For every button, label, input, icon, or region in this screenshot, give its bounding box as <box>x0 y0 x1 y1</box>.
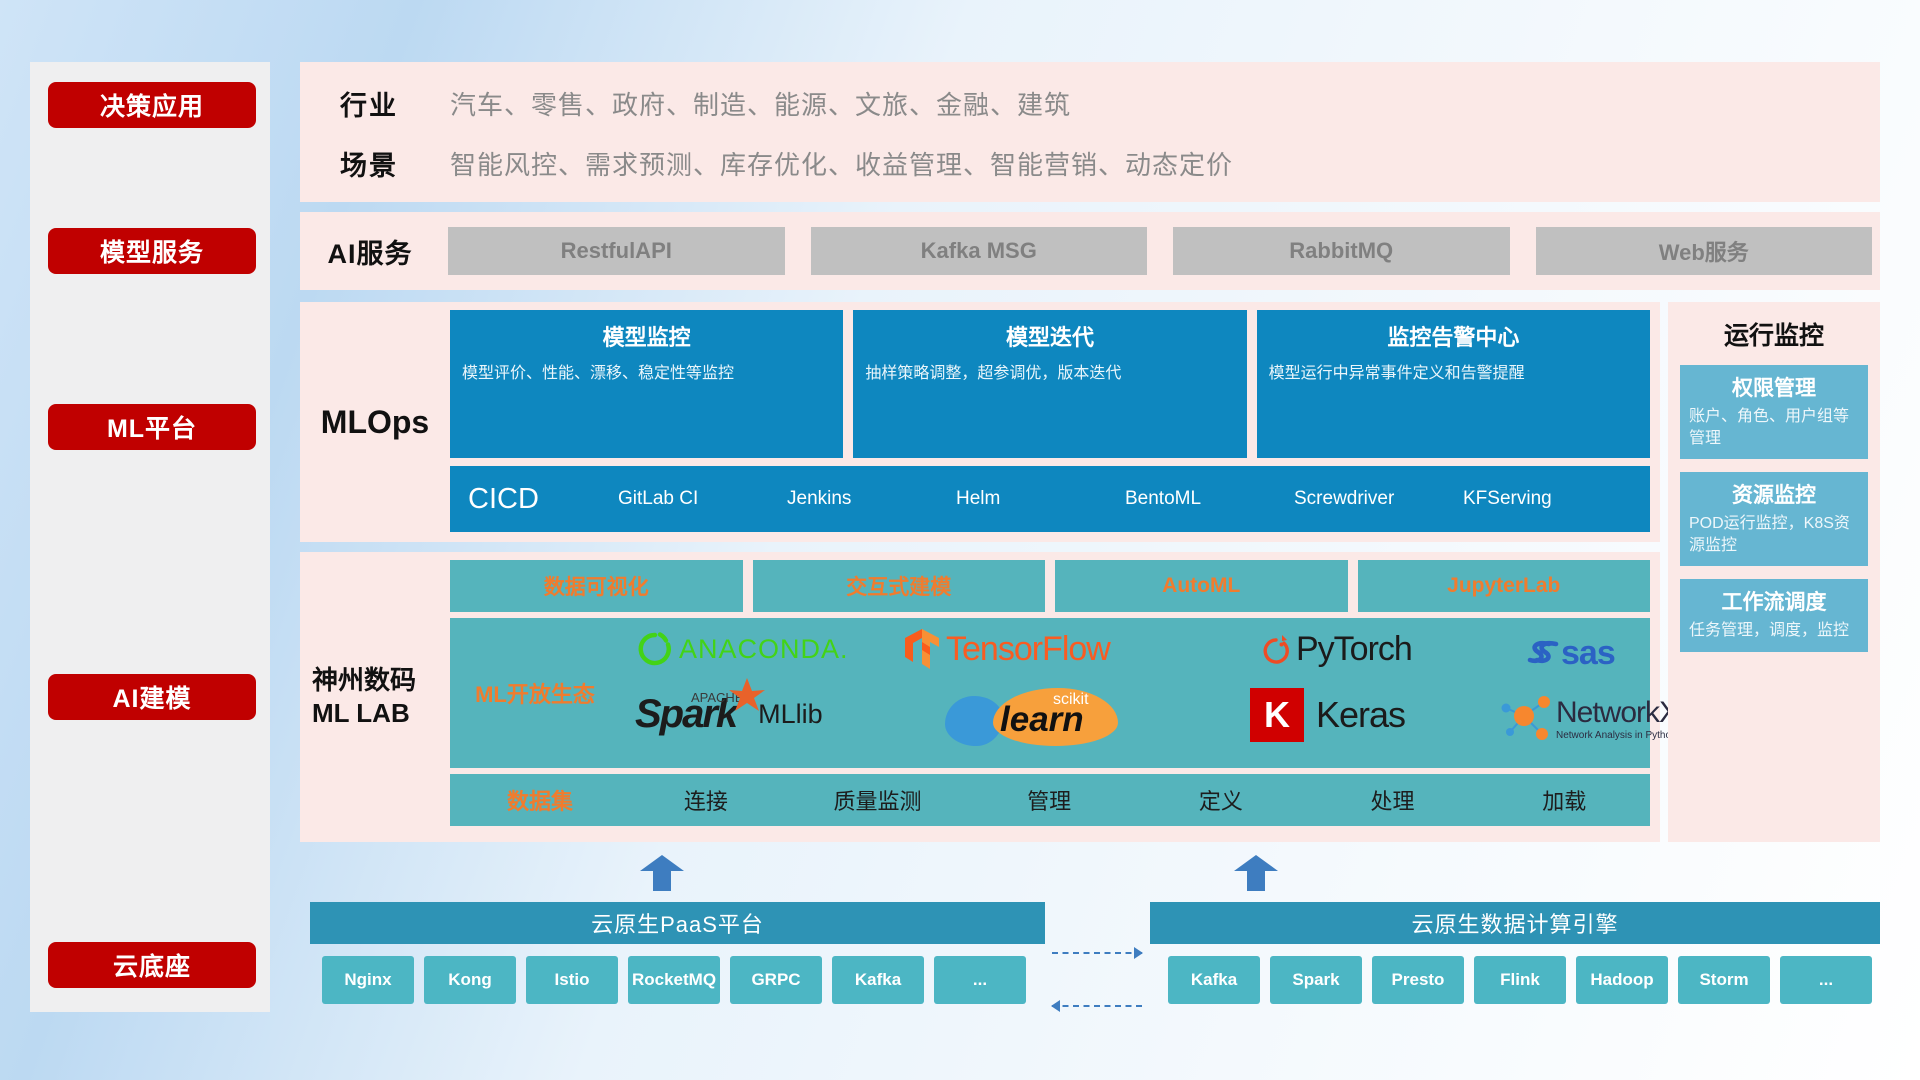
dataset-row: 数据集 连接 质量监测 管理 定义 处理 加载 <box>450 774 1650 826</box>
ai-chip-restful-api[interactable]: RestfulAPI <box>448 227 785 275</box>
compute-chip-flink[interactable]: Flink <box>1474 956 1566 1004</box>
cicd-bar: CICD GitLab CI Jenkins Helm BentoML Scre… <box>450 466 1650 532</box>
ai-service-chip-group: RestfulAPI Kafka MSG RabbitMQ Web服务 <box>440 227 1880 275</box>
keras-wordmark: Keras <box>1316 694 1405 736</box>
scikit-learn-mark-icon: scikit learn <box>945 688 1195 746</box>
cicd-item-bentoml[interactable]: BentoML <box>1125 488 1294 510</box>
networkx-mark-icon <box>1500 694 1552 742</box>
card-desc: 模型评价、性能、漂移、稳定性等监控 <box>462 362 831 385</box>
paas-platform-bar[interactable]: 云原生PaaS平台 <box>310 902 1045 944</box>
mlops-card-model-iteration[interactable]: 模型迭代 抽样策略调整，超参调优，版本迭代 <box>853 310 1246 458</box>
card-title: 工作流调度 <box>1689 586 1859 616</box>
arrow-up-compute-icon <box>1234 855 1278 891</box>
mlops-card-alert-center[interactable]: 监控告警中心 模型运行中异常事件定义和告警提醒 <box>1257 310 1650 458</box>
card-title: 模型监控 <box>462 320 831 352</box>
dataset-item-define[interactable]: 定义 <box>1135 784 1307 816</box>
ml-lab-label-line2: ML LAB <box>312 697 450 730</box>
ai-chip-rabbitmq[interactable]: RabbitMQ <box>1173 227 1510 275</box>
card-title: 资源监控 <box>1689 479 1859 509</box>
anaconda-wordmark: ANACONDA. <box>679 634 849 665</box>
compute-chip-more[interactable]: ... <box>1780 956 1872 1004</box>
card-title: 权限管理 <box>1689 372 1859 402</box>
card-title: 监控告警中心 <box>1269 320 1638 352</box>
pytorch-logo: PyTorch <box>1260 630 1412 669</box>
ml-lab-band: 神州数码 ML LAB 数据可视化 交互式建模 AutoML JupyterLa… <box>300 552 1660 842</box>
lab-tool-data-visualization[interactable]: 数据可视化 <box>450 560 743 612</box>
card-desc: 任务管理，调度，监控 <box>1689 620 1859 642</box>
dashed-arrow-right-icon <box>1052 952 1142 954</box>
mlops-band: MLOps 模型监控 模型评价、性能、漂移、稳定性等监控 模型迭代 抽样策略调整… <box>300 302 1660 542</box>
pytorch-mark-icon <box>1260 632 1292 668</box>
dataset-item-connect[interactable]: 连接 <box>620 784 792 816</box>
keras-mark-icon: K <box>1250 688 1304 742</box>
cicd-item-kfserving[interactable]: KFServing <box>1463 488 1632 510</box>
layer-rail: 决策应用 模型服务 ML平台 AI建模 云底座 <box>30 62 270 1012</box>
architecture-diagram: 决策应用 模型服务 ML平台 AI建模 云底座 行业 汽车、零售、政府、制造、能… <box>0 0 1920 1080</box>
anaconda-logo: ANACONDA. <box>638 632 849 666</box>
lab-tool-interactive-modeling[interactable]: 交互式建模 <box>753 560 1046 612</box>
industry-label: 行业 <box>340 84 450 123</box>
keras-logo: K Keras <box>1250 688 1405 742</box>
cicd-item-gitlab-ci[interactable]: GitLab CI <box>618 488 787 510</box>
paas-chip-more[interactable]: ... <box>934 956 1026 1004</box>
layer-chip-cloud-base[interactable]: 云底座 <box>48 942 256 988</box>
scikit-learn-logo: scikit learn <box>945 688 1195 746</box>
mon-card-resource[interactable]: 资源监控 POD运行监控，K8S资源监控 <box>1680 472 1868 566</box>
layer-chip-model-service[interactable]: 模型服务 <box>48 228 256 274</box>
ml-lab-label: 神州数码 ML LAB <box>300 552 450 842</box>
industry-scenario-band: 行业 汽车、零售、政府、制造、能源、文旅、金融、建筑 场景 智能风控、需求预测、… <box>300 62 1880 202</box>
mlops-card-model-monitoring[interactable]: 模型监控 模型评价、性能、漂移、稳定性等监控 <box>450 310 843 458</box>
card-desc: POD运行监控，K8S资源监控 <box>1689 513 1859 556</box>
dashed-arrow-left-icon <box>1052 1005 1142 1007</box>
industry-values: 汽车、零售、政府、制造、能源、文旅、金融、建筑 <box>450 85 1071 122</box>
lab-tool-automl[interactable]: AutoML <box>1055 560 1348 612</box>
sas-wordmark: sas <box>1561 634 1615 673</box>
cicd-item-jenkins[interactable]: Jenkins <box>787 488 956 510</box>
networkx-wordmark: NetworkX <box>1556 696 1678 730</box>
arrow-up-paas-icon <box>640 855 684 891</box>
paas-chip-kong[interactable]: Kong <box>424 956 516 1004</box>
layer-chip-ai-modeling[interactable]: AI建模 <box>48 674 256 720</box>
ai-chip-web-service[interactable]: Web服务 <box>1536 227 1873 275</box>
lab-tool-jupyterlab[interactable]: JupyterLab <box>1358 560 1651 612</box>
layer-chip-ml-platform[interactable]: ML平台 <box>48 404 256 450</box>
compute-chip-presto[interactable]: Presto <box>1372 956 1464 1004</box>
dataset-label: 数据集 <box>460 784 620 816</box>
paas-chip-nginx[interactable]: Nginx <box>322 956 414 1004</box>
card-desc: 模型运行中异常事件定义和告警提醒 <box>1269 362 1638 385</box>
tensorflow-wordmark: TensorFlow <box>946 630 1110 669</box>
paas-chip-kafka[interactable]: Kafka <box>832 956 924 1004</box>
compute-chip-group: Kafka Spark Presto Flink Hadoop Storm ..… <box>1168 956 1872 1004</box>
scenario-values: 智能风控、需求预测、库存优化、收益管理、智能营销、动态定价 <box>450 145 1233 182</box>
paas-chip-grpc[interactable]: GRPC <box>730 956 822 1004</box>
tensorflow-logo: TensorFlow <box>905 628 1110 670</box>
ai-service-label: AI服务 <box>300 232 440 271</box>
cicd-title: CICD <box>468 483 618 516</box>
dataset-item-manage[interactable]: 管理 <box>963 784 1135 816</box>
mlops-content: 模型监控 模型评价、性能、漂移、稳定性等监控 模型迭代 抽样策略调整，超参调优，… <box>450 302 1660 542</box>
ai-chip-kafka-msg[interactable]: Kafka MSG <box>811 227 1148 275</box>
ml-ecosystem-label: ML开放生态 <box>450 677 620 709</box>
ml-lab-content: 数据可视化 交互式建模 AutoML JupyterLab ML开放生态 ANA… <box>450 552 1660 842</box>
ai-service-band: AI服务 RestfulAPI Kafka MSG RabbitMQ Web服务 <box>300 212 1880 290</box>
learn-text: learn <box>1000 700 1084 740</box>
paas-chip-group: Nginx Kong Istio RocketMQ GRPC Kafka ... <box>322 956 1026 1004</box>
layer-chip-decision[interactable]: 决策应用 <box>48 82 256 128</box>
spark-mllib-logo: APACHE Spark MLlib <box>635 692 823 737</box>
spark-mark-icon: APACHE Spark <box>635 692 736 737</box>
ml-ecosystem-logos: ANACONDA. TensorFlow <box>620 618 1650 768</box>
card-desc: 账户、角色、用户组等管理 <box>1689 406 1859 449</box>
ml-ecosystem-row: ML开放生态 ANACONDA. <box>450 618 1650 768</box>
mon-card-workflow[interactable]: 工作流调度 任务管理，调度，监控 <box>1680 579 1868 652</box>
networkx-logo: NetworkX Network Analysis in Python <box>1500 694 1678 742</box>
networkx-tagline: Network Analysis in Python <box>1556 730 1678 741</box>
cicd-item-helm[interactable]: Helm <box>956 488 1125 510</box>
paas-chip-rocketmq[interactable]: RocketMQ <box>628 956 720 1004</box>
cicd-item-group: GitLab CI Jenkins Helm BentoML Screwdriv… <box>618 488 1632 510</box>
sas-mark-icon <box>1525 638 1561 670</box>
dataset-item-group: 连接 质量监测 管理 定义 处理 加载 <box>620 784 1650 816</box>
scenario-label: 场景 <box>340 144 450 183</box>
dataset-item-quality[interactable]: 质量监测 <box>792 784 964 816</box>
ml-lab-label-line1: 神州数码 <box>312 664 450 697</box>
compute-chip-kafka[interactable]: Kafka <box>1168 956 1260 1004</box>
mlops-label: MLOps <box>300 302 450 542</box>
compute-chip-hadoop[interactable]: Hadoop <box>1576 956 1668 1004</box>
compute-chip-storm[interactable]: Storm <box>1678 956 1770 1004</box>
anaconda-mark-icon <box>638 632 672 666</box>
paas-chip-istio[interactable]: Istio <box>526 956 618 1004</box>
dataset-item-process[interactable]: 处理 <box>1307 784 1479 816</box>
runtime-monitoring-title: 运行监控 <box>1668 316 1880 352</box>
data-compute-engine-bar[interactable]: 云原生数据计算引擎 <box>1150 902 1880 944</box>
dataset-item-load[interactable]: 加载 <box>1478 784 1650 816</box>
scenario-row: 场景 智能风控、需求预测、库存优化、收益管理、智能营销、动态定价 <box>340 144 1233 183</box>
cicd-item-screwdriver[interactable]: Screwdriver <box>1294 488 1463 510</box>
lab-tool-group: 数据可视化 交互式建模 AutoML JupyterLab <box>450 560 1650 612</box>
mllib-wordmark: MLlib <box>758 699 823 730</box>
mon-card-permission[interactable]: 权限管理 账户、角色、用户组等管理 <box>1680 365 1868 459</box>
compute-chip-spark[interactable]: Spark <box>1270 956 1362 1004</box>
sas-logo: sas <box>1525 634 1615 673</box>
tensorflow-mark-icon <box>905 628 941 670</box>
card-desc: 抽样策略调整，超参调优，版本迭代 <box>865 362 1234 385</box>
mlops-card-group: 模型监控 模型评价、性能、漂移、稳定性等监控 模型迭代 抽样策略调整，超参调优，… <box>450 310 1650 458</box>
card-title: 模型迭代 <box>865 320 1234 352</box>
runtime-monitoring-panel: 运行监控 权限管理 账户、角色、用户组等管理 资源监控 POD运行监控，K8S资… <box>1668 302 1880 842</box>
pytorch-wordmark: PyTorch <box>1296 630 1412 669</box>
networkx-text-block: NetworkX Network Analysis in Python <box>1556 696 1678 741</box>
spark-star-icon <box>727 676 767 716</box>
industry-row: 行业 汽车、零售、政府、制造、能源、文旅、金融、建筑 <box>340 84 1071 123</box>
